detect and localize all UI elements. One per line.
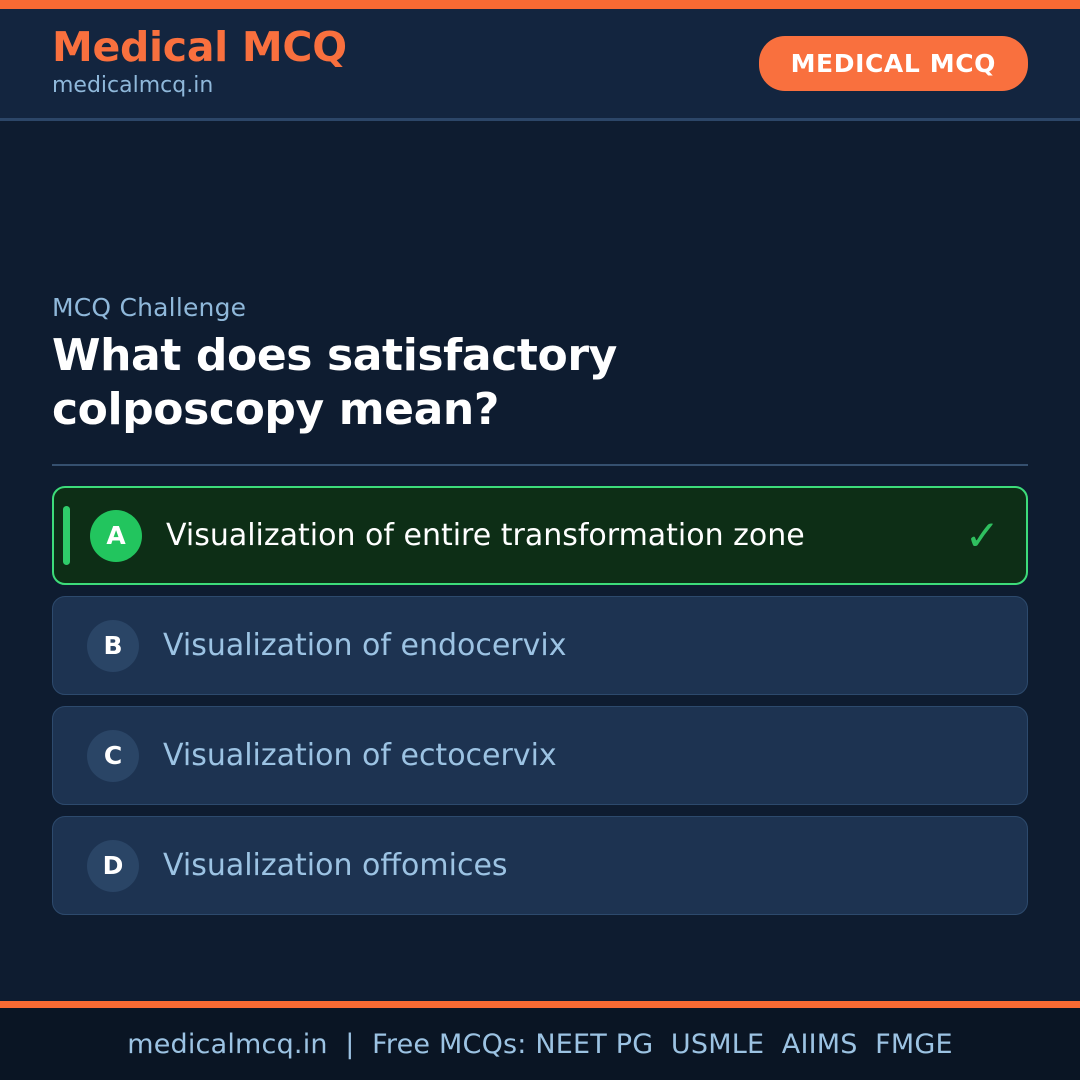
option-d[interactable]: D Visualization offomices ✓ <box>52 816 1028 915</box>
options-list: A Visualization of entire transformation… <box>52 486 1028 915</box>
mcq-card: Medical MCQ medicalmcq.in MEDICAL MCQ MC… <box>0 0 1080 1080</box>
top-accent-strip <box>0 0 1080 9</box>
brand-subtitle: medicalmcq.in <box>52 72 347 101</box>
option-d-text: Visualization offomices <box>163 847 954 885</box>
site-header: Medical MCQ medicalmcq.in MEDICAL MCQ <box>0 9 1080 121</box>
option-b[interactable]: B Visualization of endocervix ✓ <box>52 596 1028 695</box>
question-eyebrow: MCQ Challenge <box>52 293 1028 322</box>
correct-accent-bar <box>63 506 70 565</box>
option-c-text: Visualization of ectocervix <box>163 737 954 775</box>
header-badge: MEDICAL MCQ <box>759 36 1028 91</box>
footer-accent-rule <box>0 1001 1080 1008</box>
option-c-letter: C <box>87 730 139 782</box>
question-text: What does satisfactory colposcopy mean? <box>52 329 792 436</box>
option-a-letter: A <box>90 510 142 562</box>
brand-title: Medical MCQ <box>52 26 347 69</box>
question-body: MCQ Challenge What does satisfactory col… <box>0 121 1080 1001</box>
option-b-letter: B <box>87 620 139 672</box>
option-c[interactable]: C Visualization of ectocervix ✓ <box>52 706 1028 805</box>
question-zone: MCQ Challenge What does satisfactory col… <box>52 293 1028 436</box>
check-icon: ✓ <box>965 515 1000 557</box>
option-b-text: Visualization of endocervix <box>163 627 954 665</box>
option-a[interactable]: A Visualization of entire transformation… <box>52 486 1028 585</box>
brand-block: Medical MCQ medicalmcq.in <box>52 26 347 101</box>
option-d-letter: D <box>87 840 139 892</box>
footer-text: medicalmcq.in | Free MCQs: NEET PG USMLE… <box>127 1029 953 1060</box>
section-divider <box>52 464 1028 466</box>
option-a-text: Visualization of entire transformation z… <box>166 517 953 555</box>
site-footer: medicalmcq.in | Free MCQs: NEET PG USMLE… <box>0 1008 1080 1080</box>
